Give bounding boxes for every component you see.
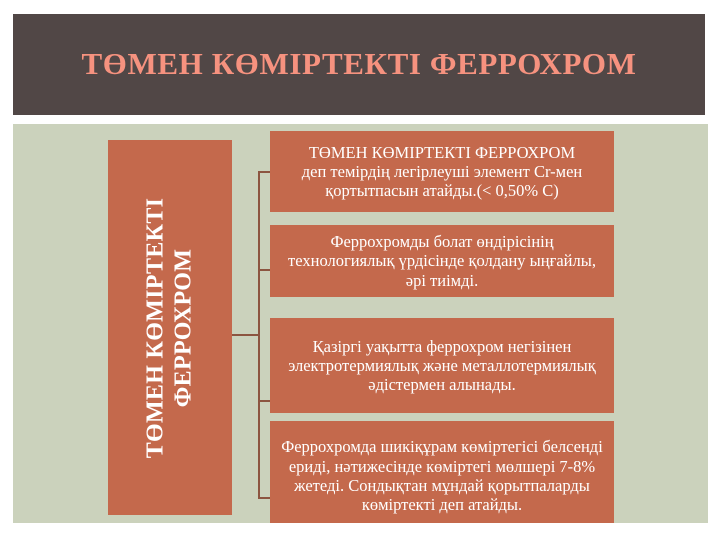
diagram-node-3-text: Қазіргі уақытта феррохром негізінен элек…	[277, 337, 607, 395]
connector-root-stub	[232, 334, 258, 336]
diagram-node-1[interactable]: ТӨМЕН КӨМІРТЕКТІ ФЕРРОХРОМдеп темірдің л…	[270, 131, 614, 212]
diagram-node-3[interactable]: Қазіргі уақытта феррохром негізінен элек…	[270, 318, 614, 413]
diagram-panel: ТӨМЕН КӨМІРТЕКТІ ФЕРРОХРОМ ТӨМЕН КӨМІРТЕ…	[13, 124, 708, 523]
diagram-node-1-heading: ТӨМЕН КӨМІРТЕКТІ ФЕРРОХРОМ	[277, 143, 607, 162]
slide-title-banner: ТӨМЕН КӨМІРТЕКТІ ФЕРРОХРОМ	[13, 14, 705, 115]
diagram-node-1-text: ТӨМЕН КӨМІРТЕКТІ ФЕРРОХРОМдеп темірдің л…	[277, 143, 607, 201]
diagram-node-2-text: Феррохромды болат өндірісінің технология…	[277, 232, 607, 290]
slide-title: ТӨМЕН КӨМІРТЕКТІ ФЕРРОХРОМ	[82, 47, 637, 81]
diagram-node-4[interactable]: Феррохромда шикіқұрам көміртегісі белсен…	[270, 421, 614, 523]
diagram-node-2[interactable]: Феррохромды болат өндірісінің технология…	[270, 225, 614, 297]
connector-trunk-line	[258, 171, 260, 498]
diagram-root-node-label: ТӨМЕН КӨМІРТЕКТІ ФЕРРОХРОМ	[142, 142, 199, 513]
diagram-node-4-text: Феррохромда шикіқұрам көміртегісі белсен…	[277, 437, 607, 514]
slide-canvas: ТӨМЕН КӨМІРТЕКТІ ФЕРРОХРОМ ТӨМЕН КӨМІРТЕ…	[0, 0, 720, 540]
diagram-root-node[interactable]: ТӨМЕН КӨМІРТЕКТІ ФЕРРОХРОМ	[108, 140, 232, 515]
diagram-node-1-body: деп темірдің легірлеуші элемент Cr-мен қ…	[302, 162, 582, 200]
